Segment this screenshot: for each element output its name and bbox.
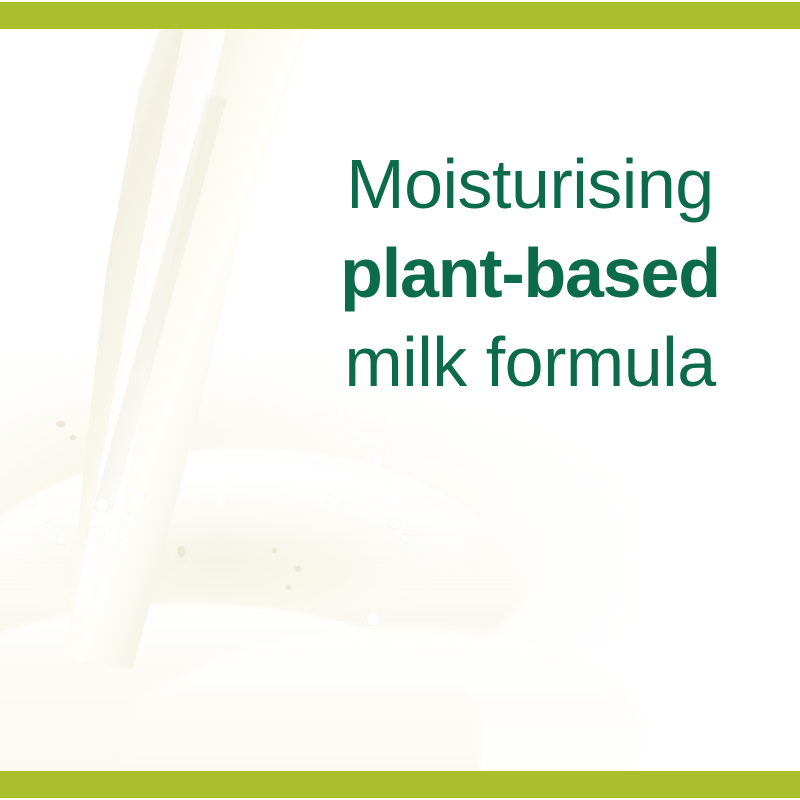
milk-droplet (366, 612, 380, 625)
milk-droplet (124, 513, 135, 523)
bottom-accent-rule (0, 771, 800, 798)
milk-droplet (286, 585, 291, 590)
headline-line-1: Moisturising (300, 140, 760, 229)
milk-droplet (402, 535, 410, 542)
splash-spike (330, 481, 340, 507)
milk-droplet (70, 435, 76, 440)
splash-spike (392, 476, 400, 506)
splash-spike (372, 454, 381, 498)
milk-droplet (136, 491, 145, 499)
milk-droplet (96, 499, 109, 510)
top-accent-rule (0, 2, 800, 29)
headline-line-3: milk formula (300, 318, 760, 407)
milk-droplet (178, 547, 182, 551)
milk-droplet (28, 499, 35, 505)
milk-droplet (43, 517, 49, 522)
splash-spike (218, 469, 225, 505)
milk-droplet (57, 531, 65, 544)
milk-droplet (326, 495, 335, 503)
milk-droplet (390, 519, 400, 528)
milk-droplet (116, 541, 124, 548)
milk-droplet (56, 421, 65, 427)
product-banner: Moisturising plant-based milk formula (0, 0, 800, 800)
milk-droplet (272, 548, 277, 553)
headline-line-2: plant-based (300, 229, 760, 318)
milk-droplet (295, 566, 301, 572)
headline: Moisturising plant-based milk formula (300, 140, 760, 407)
splash-spike (262, 459, 268, 481)
milk-droplet (88, 527, 104, 540)
milk-droplet (340, 503, 347, 509)
